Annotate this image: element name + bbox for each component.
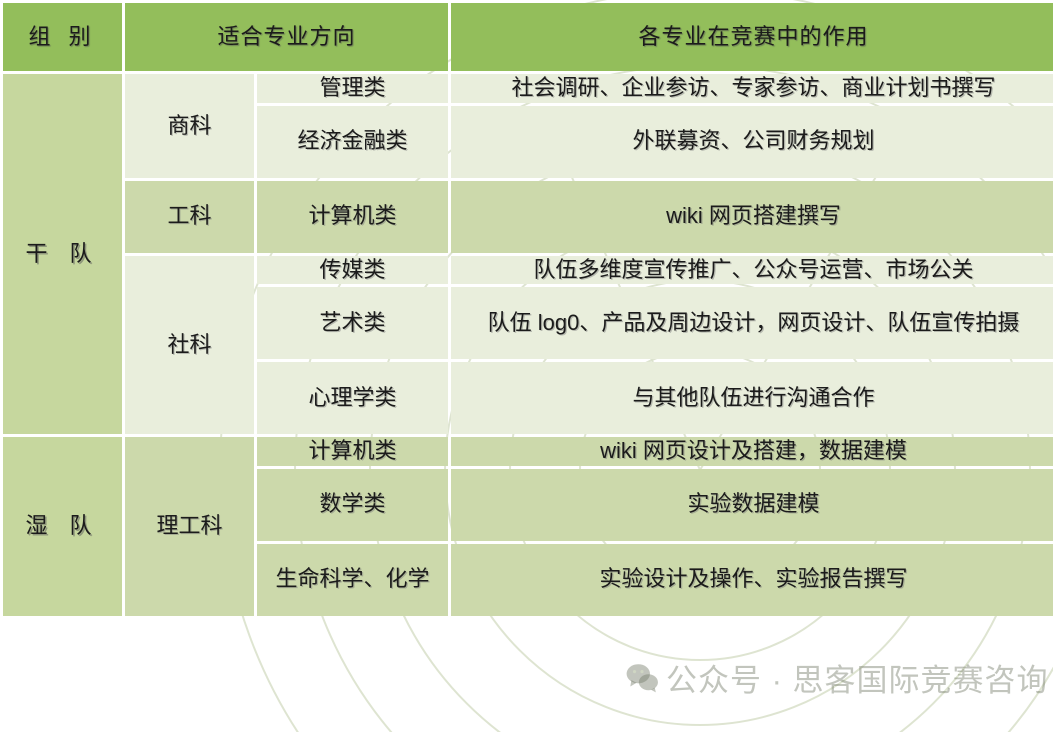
majors-roles-table-container: 组 别 适合专业方向 各专业在竞赛中的作用 干 队 商科 管理类 社会调研、企业… xyxy=(0,0,1053,732)
sub-major-cell: 管理类 xyxy=(257,74,448,103)
major-cell: 商科 xyxy=(125,74,254,178)
table-row: 干 队 商科 管理类 社会调研、企业参访、专家参访、商业计划书撰写 xyxy=(3,74,1053,103)
header-major: 适合专业方向 xyxy=(125,3,448,71)
table-row: 湿 队 理工科 计算机类 wiki 网页设计及搭建，数据建模 xyxy=(3,437,1053,466)
sub-major-cell: 数学类 xyxy=(257,469,448,541)
major-cell: 理工科 xyxy=(125,437,254,616)
majors-roles-table: 组 别 适合专业方向 各专业在竞赛中的作用 干 队 商科 管理类 社会调研、企业… xyxy=(0,0,1053,619)
role-cell: 社会调研、企业参访、专家参访、商业计划书撰写 xyxy=(451,74,1053,103)
role-cell: 队伍多维度宣传推广、公众号运营、市场公关 xyxy=(451,256,1053,285)
group-cell-wet: 湿 队 xyxy=(3,437,122,616)
role-cell: 实验数据建模 xyxy=(451,469,1053,541)
role-cell: wiki 网页搭建撰写 xyxy=(451,181,1053,253)
role-cell: 实验设计及操作、实验报告撰写 xyxy=(451,544,1053,616)
sub-major-cell: 生命科学、化学 xyxy=(257,544,448,616)
sub-major-cell: 计算机类 xyxy=(257,437,448,466)
table-row: 社科 传媒类 队伍多维度宣传推广、公众号运营、市场公关 xyxy=(3,256,1053,285)
table-header-row: 组 别 适合专业方向 各专业在竞赛中的作用 xyxy=(3,3,1053,71)
role-cell: 与其他队伍进行沟通合作 xyxy=(451,362,1053,434)
group-cell-dry: 干 队 xyxy=(3,74,122,434)
major-cell: 社科 xyxy=(125,256,254,435)
table-row: 工科 计算机类 wiki 网页搭建撰写 xyxy=(3,181,1053,253)
sub-major-cell: 计算机类 xyxy=(257,181,448,253)
header-role: 各专业在竞赛中的作用 xyxy=(451,3,1053,71)
role-cell: 外联募资、公司财务规划 xyxy=(451,106,1053,178)
sub-major-cell: 传媒类 xyxy=(257,256,448,285)
sub-major-cell: 经济金融类 xyxy=(257,106,448,178)
role-cell: 队伍 log0、产品及周边设计，网页设计、队伍宣传拍摄 xyxy=(451,287,1053,359)
header-group: 组 别 xyxy=(3,3,122,71)
sub-major-cell: 心理学类 xyxy=(257,362,448,434)
sub-major-cell: 艺术类 xyxy=(257,287,448,359)
major-cell: 工科 xyxy=(125,181,254,253)
role-cell: wiki 网页设计及搭建，数据建模 xyxy=(451,437,1053,466)
